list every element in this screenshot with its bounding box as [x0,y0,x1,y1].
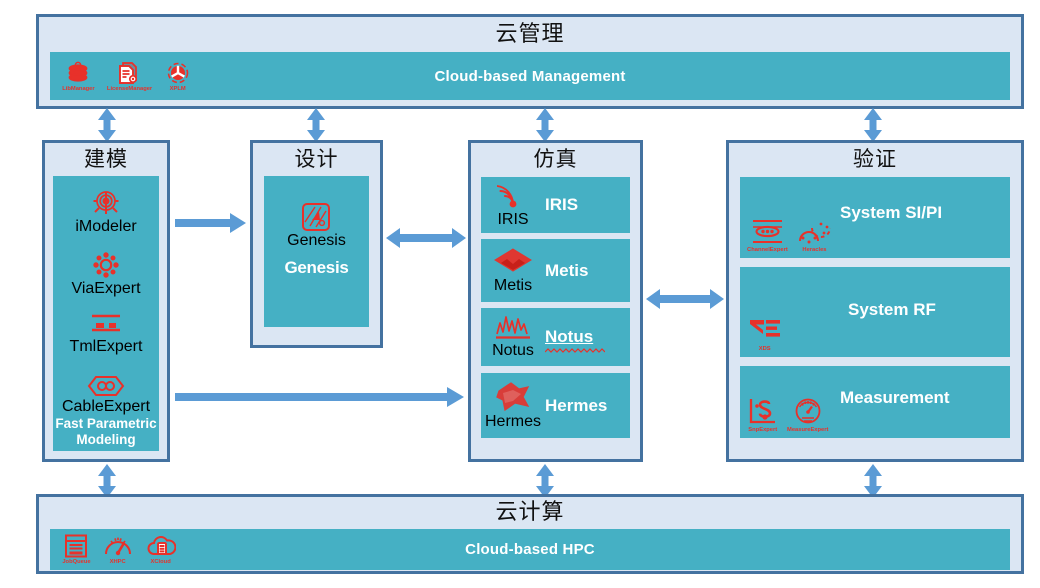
system-si-pi-icon-group: ChannelExpert Heracles [748,217,833,254]
xds-icon [748,316,782,346]
arrow-cloudmgmt-validation [862,108,884,142]
tmlexpert-icon-group[interactable]: TmlExpert [70,312,143,356]
snpexpert-icon-group[interactable]: SnpExpert [748,397,778,434]
viaexpert-icon-group[interactable]: ViaExpert [71,250,140,298]
validation-row-system-rf[interactable]: System RF XDS [740,267,1010,357]
genesis-icon-group: Genesis [287,202,346,250]
channelexpert-label: ChannelExpert [747,247,788,253]
heracles-icon-group[interactable]: Heracles [797,219,833,254]
license-manager-label: LicenseManager [107,87,152,93]
lib-manager-label: LibManager [62,87,94,93]
iris-icon [497,181,529,211]
cableexpert-label: CableExpert [62,398,150,416]
system-rf-icon-group: XDS [748,316,782,353]
heracles-label: Heracles [803,247,827,253]
hermes-icon-label: Hermes [485,413,541,431]
arrow-cloudmgmt-design [305,108,327,142]
cloud-management-banner-text: Cloud-based Management [50,68,1010,85]
imodeler-icon-group[interactable]: iModeler [75,188,136,236]
arrow-cloudmgmt-simulation [534,108,556,142]
arrow-modeling-cloudhpc [96,464,118,498]
simulation-row-hermes[interactable]: Hermes Hermes [481,373,630,438]
system-si-pi-label: System SI/PI [840,203,942,223]
xhpc-icon [104,533,132,559]
cloud-hpc-icon-group: JobQueue [50,533,176,566]
measureexpert-label: MeasureExpert [787,427,828,433]
notus-icon-group: Notus [485,314,541,360]
hermes-icon [495,381,531,413]
metis-icon [493,247,533,277]
xcloud-icon [146,533,176,559]
modeling-title: 建模 [45,143,167,173]
license-manager-icon [116,60,142,86]
design-teal-block[interactable]: Genesis Genesis [264,176,369,327]
viaexpert-label: ViaExpert [71,280,140,298]
snpexpert-icon [748,397,778,427]
lib-manager-icon-group[interactable]: LibManager [63,60,94,93]
design-title: 设计 [253,143,380,173]
cloud-hpc-banner-text: Cloud-based HPC [50,541,1010,558]
simulation-title: 仿真 [471,143,640,173]
xplm-label: XPLM [170,87,186,93]
validation-row-measurement[interactable]: Measurement SnpExpert [740,366,1010,438]
system-rf-label: System RF [848,300,936,320]
spellcheck-squiggle-icon [545,348,605,353]
arrow-simulation-validation [646,286,724,312]
xds-label: XDS [759,346,771,352]
measurement-label: Measurement [840,388,950,408]
metis-label: Metis [545,261,588,281]
design-panel: 设计 Genesis Genesis [250,140,383,348]
imodeler-icon [91,188,121,218]
cloud-hpc-title: 云计算 [39,497,1021,528]
channelexpert-icon-group[interactable]: ChannelExpert [748,217,787,254]
jobqueue-icon [63,533,89,559]
cableexpert-icon-group[interactable]: CableExpert [62,374,150,416]
license-manager-icon-group[interactable]: LicenseManager [108,60,151,93]
lib-manager-icon [65,60,91,86]
simulation-row-metis[interactable]: Metis Metis [481,239,630,302]
modeling-footer: Fast Parametric Modeling [55,416,156,448]
modeling-footer-line2: Modeling [55,432,156,448]
metis-icon-group: Metis [485,247,541,295]
iris-icon-group: IRIS [485,181,541,229]
channelexpert-icon [751,217,784,247]
validation-title: 验证 [729,143,1021,173]
tmlexpert-label: TmlExpert [70,338,143,356]
xplm-icon [165,60,191,86]
notus-icon [495,314,531,342]
xhpc-label: XHPC [110,560,126,566]
arrow-validation-cloudhpc [862,464,884,498]
snpexpert-label: SnpExpert [749,427,778,433]
genesis-icon-label: Genesis [287,232,346,250]
cableexpert-icon [87,374,125,398]
arrow-design-simulation [386,225,466,251]
cloud-hpc-banner: JobQueue [50,529,1010,570]
iris-label: IRIS [545,195,578,215]
xhpc-icon-group[interactable]: XHPC [104,533,132,566]
notus-icon-label: Notus [492,342,534,360]
arrow-modeling-design [175,212,247,234]
simulation-row-iris[interactable]: IRIS IRIS [481,177,630,233]
validation-row-system-si-pi[interactable]: System SI/PI Channe [740,177,1010,258]
simulation-row-notus[interactable]: Notus Notus [481,308,630,366]
jobqueue-label: JobQueue [62,560,90,566]
modeling-footer-line1: Fast Parametric [55,416,156,432]
measureexpert-icon [793,397,823,427]
xcloud-icon-group[interactable]: XCloud [146,533,176,566]
cloud-management-title: 云管理 [39,17,1021,50]
iris-icon-label: IRIS [497,211,528,229]
notus-label: Notus [545,327,593,347]
genesis-product-label: Genesis [284,258,348,278]
cloud-hpc-panel: 云计算 JobQueue [36,494,1024,574]
simulation-panel: 仿真 IRIS IRIS [468,140,643,462]
cloud-management-banner: LibManager License [50,52,1010,100]
viaexpert-icon [91,250,121,280]
tmlexpert-icon [89,312,123,338]
arrow-simulation-cloudhpc [534,464,556,498]
cloud-management-icon-group: LibManager License [50,60,191,93]
imodeler-label: iModeler [75,218,136,236]
modeling-panel: 建模 iModeler [42,140,170,462]
arrow-modeling-simulation [175,386,465,408]
heracles-icon [797,219,833,247]
measureexpert-icon-group[interactable]: MeasureExpert [788,397,827,434]
measurement-icon-group: SnpExpert [748,397,827,434]
arrow-cloudmgmt-modeling [96,108,118,142]
validation-panel: 验证 System SI/PI [726,140,1024,462]
architecture-diagram: 云管理 LibManager [0,0,1040,588]
xcloud-label: XCloud [151,560,171,566]
xds-icon-group[interactable]: XDS [748,316,782,353]
hermes-label: Hermes [545,396,607,416]
hermes-icon-group: Hermes [485,381,541,431]
modeling-teal-block: iModeler ViaExpert [53,176,159,451]
cloud-management-panel: 云管理 LibManager [36,14,1024,109]
jobqueue-icon-group[interactable]: JobQueue [63,533,90,566]
xplm-icon-group[interactable]: XPLM [165,60,191,93]
metis-icon-label: Metis [494,277,532,295]
genesis-icon [301,202,331,232]
